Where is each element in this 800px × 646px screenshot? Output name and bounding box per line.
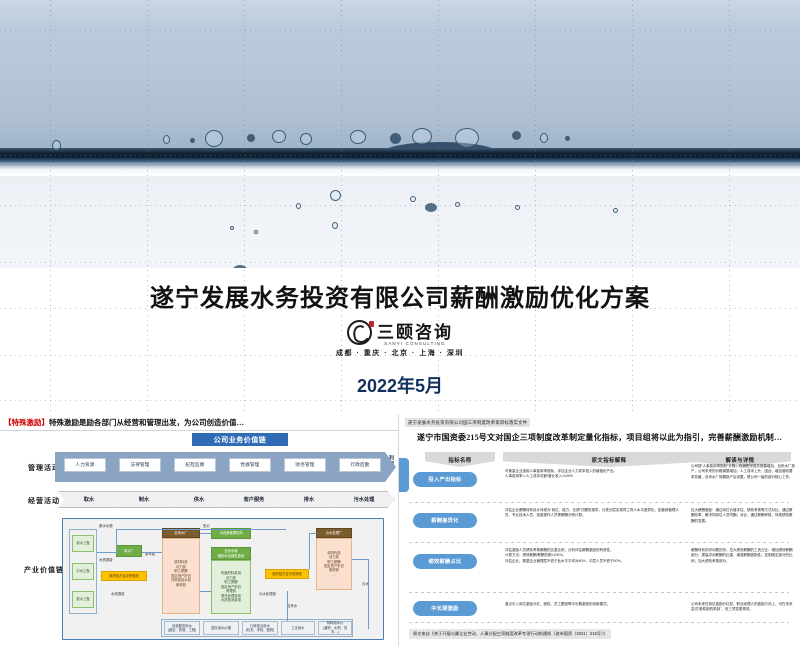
row-original-1: 可衡量企业选用人事费用率指标，评估企业人力成本投入的增值化产出。 人事费用率＝人… (505, 469, 683, 480)
water-foam (0, 162, 800, 176)
row-label-3[interactable]: 绩效薪酬占比 (413, 554, 477, 569)
user-box-1[interactable]: 经营服务用水 (酒店、宾馆、工程) (164, 621, 200, 635)
bubble (455, 128, 479, 148)
mgmt-box-3[interactable]: 纪检监察 (174, 458, 216, 472)
slide-preview-page: 遂宁发展水务投资有限公司薪酬激励优化方案 三颐咨询 SANYI CONSULTI… (0, 0, 800, 646)
bubble (232, 265, 248, 268)
connector (116, 529, 117, 553)
mgmt-box-4[interactable]: 党群管理 (229, 458, 271, 472)
user-box-4[interactable]: 工业用水 (281, 621, 315, 635)
bubble (230, 226, 234, 230)
mgmt-box-2[interactable]: 法律管理 (119, 458, 161, 472)
right-slide[interactable]: 遂宁发展水务投资有限公司国三项制度改革第目标落实文件 遂宁市国资委215号文对国… (398, 414, 800, 646)
user-box-5[interactable]: 特种用水价 (酒吧、水吧、洗车…) (318, 621, 352, 635)
bubble (330, 190, 341, 201)
connector (200, 591, 211, 592)
guide-line (0, 30, 800, 31)
left-nav-arrow[interactable] (398, 458, 409, 492)
chevron-6[interactable]: 污水处理 (333, 491, 395, 508)
left-slide-header-tag: 【特殊激励】 (4, 418, 49, 427)
bubble (613, 208, 618, 213)
row-detail-1: 公司按“人事费用率指标”计算，在销售完成总规模增加，自来水厂投产，公司未来的价格… (691, 464, 795, 480)
guide-line (0, 205, 800, 206)
bubble (247, 134, 255, 142)
chevron-4[interactable]: 客户服务 (223, 491, 285, 508)
tap-cost-list: 原材料费 动力费 职工薪酬 固定资产折旧 外购成品水费 维修费 … (162, 538, 200, 614)
price-box-2[interactable]: 政府批方及中央财政 (265, 569, 309, 579)
logo-cities: 成都 · 重庆 · 北京 · 上海 · 深圳 (336, 348, 464, 358)
flow-label-sewage-fee: 污水处理费 (259, 591, 276, 596)
left-slide-header-text: 特殊激励是励各部门从经营和管理出发，为公司创造价值… (49, 418, 244, 427)
row-divider (409, 592, 789, 593)
chevron-2[interactable]: 制水 (113, 491, 175, 508)
right-slide-footer: 原文来自《关于开展与属企业劳动、人事分配三项制度改革专项行动的通知（遂市国资〔2… (409, 629, 611, 639)
row-divider (409, 542, 789, 543)
divider (0, 430, 398, 431)
bubble (190, 138, 195, 143)
chevron-3[interactable]: 供水 (168, 491, 230, 508)
source-box-1[interactable]: 原水工程 (72, 535, 94, 552)
chevron-5[interactable]: 排水 (278, 491, 340, 508)
flow-label-tap-water: 自来水 (287, 603, 297, 608)
mgmt-box-1[interactable]: 人力资源 (64, 458, 106, 472)
raw-water-plant[interactable]: 原水厂 (116, 545, 142, 557)
row-divider (409, 622, 789, 623)
connector (116, 529, 286, 530)
cover-slide: 遂宁发展水务投资有限公司薪酬激励优化方案 三颐咨询 SANYI CONSULTI… (0, 0, 800, 414)
row-label-industry: 产业价值链 (24, 565, 64, 575)
logo-seal-icon (369, 321, 374, 327)
column-header-name: 指标名称 (425, 452, 495, 467)
column-header-original: 原文指标解释 (503, 452, 715, 467)
source-label: 原水水源 (99, 523, 113, 528)
row-detail-2: 拉大薪酬差距：通过岗位价值评估、绩效考核等方式对比，通过薪酬改革，解决同岗位人员… (691, 508, 795, 524)
bubble (412, 128, 432, 145)
flow-label-water-fee-2: 水资源费 (111, 591, 125, 596)
bubble (390, 133, 401, 144)
row-original-4: 重点引入岗位激励分红、股权、员工跟投等中长期激励的创新模式。 (505, 602, 683, 607)
row-label-2[interactable]: 薪酬差异化 (413, 513, 477, 528)
process-diagram: 原水水源 原水工程 引水工程 提水工程 原水厂 政府批方及中央财政 自来水厂 原… (62, 518, 384, 640)
connector (200, 533, 211, 534)
row-original-2: 评估企业薪酬体系设计体现为“岗位、能力、业绩”付酬的指导，分类分层实现同工同人水… (505, 508, 683, 519)
bubble (272, 130, 286, 143)
value-chain-title: 公司业务价值链 (192, 433, 288, 446)
supply-cost-title: 自来水管 输配水及销售费用 (211, 547, 251, 560)
mgmt-box-5[interactable]: 财务管理 (284, 458, 326, 472)
source-box-3[interactable]: 提水工程 (72, 591, 94, 608)
connector (368, 559, 369, 629)
page-title: 遂宁发展水务投资有限公司薪酬激励优化方案 (0, 278, 800, 313)
bubble (410, 196, 416, 202)
row-original-3: 评估激励人员绩效考核薪酬的比重比例，分析评估薪酬激励的有效性。 计算方法：绩效薪… (505, 548, 683, 564)
price-box-1[interactable]: 政府批方及中央财政 (101, 571, 147, 581)
row-label-1[interactable]: 投入产出指标 (413, 472, 477, 487)
guide-line (0, 262, 800, 263)
logo-name-cn: 三颐咨询 (377, 318, 453, 343)
bubble (332, 222, 338, 229)
bubble (300, 133, 312, 145)
sanyi-swirl-icon (347, 320, 372, 345)
bubble (205, 130, 223, 147)
row-label-4[interactable]: 中长期激励 (413, 601, 477, 616)
row-label-operation: 经营活动 (28, 496, 60, 506)
left-slide-header: 【特殊激励】特殊激励是励各部门从经营和管理出发，为公司创造价值… (4, 417, 244, 428)
bubble (565, 136, 570, 141)
mgmt-box-6[interactable]: 行政后勤 (339, 458, 381, 472)
guide-line (0, 155, 800, 156)
logo-name-en: SANYI CONSULTING (384, 341, 446, 346)
water-photo (0, 0, 800, 268)
user-box-2[interactable]: 居民用水价格 (203, 621, 239, 635)
row-detail-3: 薪酬体系的浮动着的份，拉大绩效薪酬的工资占比：增加绩效薪酬部分；提高浮动薪酬的比… (691, 548, 795, 564)
flow-label-water-fee-1: 水资源费 (99, 557, 113, 562)
connector (142, 552, 162, 553)
bubble (254, 230, 258, 234)
connector (309, 533, 310, 569)
connector (352, 559, 368, 560)
sewage-plant[interactable]: 污水处理厂 (316, 528, 352, 538)
bubble (52, 140, 61, 151)
company-logo: 三颐咨询 SANYI CONSULTING 成都 · 重庆 · 北京 · 上海 … (0, 318, 800, 358)
connector (287, 591, 288, 621)
bubble (350, 130, 366, 144)
cover-date: 2022年5月 (0, 372, 800, 398)
source-box-2[interactable]: 引水工程 (72, 563, 94, 580)
row-detail-4: 公司未来在岗位激励分红权、职业经理人的激励方向上，可在未来尝试“股权制的机制”，… (691, 602, 795, 613)
guide-line (0, 400, 800, 401)
flow-label-sell: 售价 (203, 523, 210, 528)
right-slide-title: 遂宁市国资委215号文对国企三项制度改革制定量化指标，项目组将以此为指引，完善薪… (417, 432, 793, 443)
connector (97, 552, 116, 553)
bubble (296, 203, 301, 209)
row-divider (409, 502, 789, 503)
water-resource-authority[interactable]: 水资源管理机构 (211, 528, 251, 539)
sewage-cost-list: 原材料费 动力费 职工薪酬 固定资产折旧 维修费 … (316, 538, 352, 590)
connector (309, 533, 317, 534)
user-box-3[interactable]: 行政事业用水 (机关、学校、医院) (242, 621, 278, 635)
right-slide-banner: 遂宁发展水务投资有限公司国三项制度改革第目标落实文件 (405, 418, 530, 427)
supply-cost-list: 机器材料费用 动力费 职工薪酬 固定资产折旧 修理费 委托处理费用 水质检测费用 (211, 560, 251, 614)
chevron-1[interactable]: 取水 (58, 491, 120, 508)
bubble (540, 133, 548, 143)
bubble (512, 131, 521, 140)
bubble (163, 135, 170, 144)
logo-row: 三颐咨询 SANYI CONSULTING (347, 318, 453, 346)
